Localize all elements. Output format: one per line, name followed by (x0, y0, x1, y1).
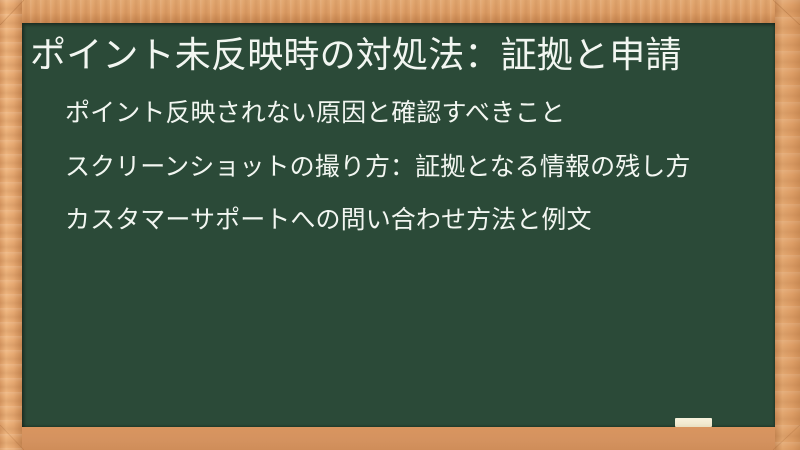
frame-corner-bottom-right (773, 425, 800, 450)
frame-bottom-rail (0, 427, 800, 450)
frame-right-stile (775, 0, 800, 450)
frame-corner-top-right (773, 0, 800, 25)
frame-corner-top-left (0, 0, 24, 25)
topic-list: ポイント反映されない原因と確認すべきこと スクリーンショットの撮り方：証拠となる… (30, 97, 755, 237)
chalk-stick-icon (675, 418, 712, 427)
frame-top-rail (0, 0, 800, 23)
chalkboard-surface: ポイント未反映時の対処法：証拠と申請 ポイント反映されない原因と確認すべきこと … (22, 23, 775, 427)
slide-title: ポイント未反映時の対処法：証拠と申請 (30, 33, 755, 79)
list-item: スクリーンショットの撮り方：証拠となる情報の残し方 (65, 151, 751, 184)
frame-left-stile (0, 0, 22, 450)
list-item: ポイント反映されない原因と確認すべきこと (65, 97, 751, 130)
chalkboard-slide: ポイント未反映時の対処法：証拠と申請 ポイント反映されない原因と確認すべきこと … (0, 0, 800, 450)
frame-corner-bottom-left (0, 425, 24, 450)
list-item: カスタマーサポートへの問い合わせ方法と例文 (65, 204, 751, 237)
board-content: ポイント未反映時の対処法：証拠と申請 ポイント反映されない原因と確認すべきこと … (22, 23, 775, 427)
